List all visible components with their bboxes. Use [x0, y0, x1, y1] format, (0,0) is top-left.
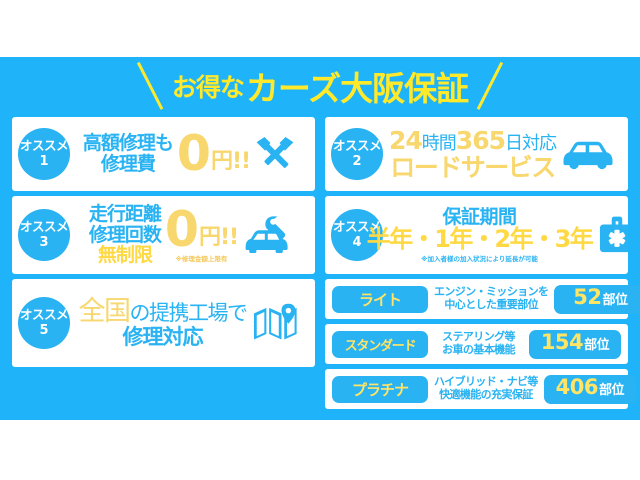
plan-description: ハイブリッド・ナビ等 快適機能の充実保証 — [434, 376, 538, 401]
poster-header: ＼ お得な カーズ大阪保証 ／ — [0, 57, 640, 115]
card-1-line1: 高額修理も — [83, 133, 173, 154]
badge-number: 2 — [352, 155, 361, 168]
card-4-text: 保証期間 半年・1年・2年・3年 ※加入者様の加入状況により延長が可能 — [367, 207, 593, 263]
plan-row-standard[interactable]: スタンダード ステアリング等 お車の基本機能 154 部位 — [325, 324, 628, 364]
map-pin-icon — [251, 301, 301, 345]
plan-name-pill: スタンダード — [332, 331, 428, 358]
plan-row-platinum[interactable]: プラチナ ハイブリッド・ナビ等 快適機能の充実保証 406 部位 — [325, 369, 628, 409]
plan-count-pill: 52 部位 — [554, 285, 640, 314]
recommend-badge-5: オススメ 5 — [18, 297, 70, 349]
recommend-badge-2: オススメ 2 — [331, 128, 383, 180]
card-2-days-unit: 日対応 — [505, 133, 556, 154]
feature-card-2: オススメ 2 24時間365日対応 ロードサービス — [325, 117, 628, 191]
feature-card-5: オススメ 5 全国の提携工場で 修理対応 — [12, 279, 315, 367]
card-5-line1: 全国の提携工場で — [79, 297, 247, 326]
card-4-line1: 保証期間 — [367, 207, 593, 228]
plan-description-line2: 快適機能の充実保証 — [434, 389, 538, 402]
card-5-line1-rest: の提携工場で — [130, 301, 247, 325]
card-5-line1-highlight: 全国 — [79, 296, 130, 327]
plan-count-number: 406 — [556, 375, 598, 399]
plan-name-pill: プラチナ — [332, 376, 428, 403]
card-1-amount-unit: 円!! — [211, 152, 250, 176]
recommend-badge-1: オススメ 1 — [18, 128, 70, 180]
plan-count-number: 154 — [541, 330, 583, 354]
card-1-text: 高額修理も 修理費 — [83, 133, 173, 174]
badge-number: 5 — [39, 324, 48, 337]
header-title: カーズ大阪保証 — [246, 62, 468, 110]
header-slash-right-icon: ／ — [466, 63, 516, 113]
badge-label: オススメ — [20, 140, 68, 153]
car-icon — [560, 137, 616, 171]
plan-count-unit: 部位 — [603, 289, 628, 308]
plan-count-pill: 406 部位 — [544, 375, 636, 404]
card-3-text: 走行距離 修理回数 無制限 — [89, 204, 161, 266]
badge-number: 4 — [352, 236, 361, 249]
hammer-tools-icon — [254, 133, 296, 175]
feature-grid: オススメ 1 高額修理も 修理費 0 円!! — [12, 117, 628, 413]
card-2-hours-unit: 時間 — [422, 133, 456, 154]
card-3-line1: 走行距離 — [89, 204, 161, 225]
card-2-days: 365 — [456, 126, 505, 155]
feature-card-1: オススメ 1 高額修理も 修理費 0 円!! — [12, 117, 315, 191]
card-3-line3: 無制限 — [89, 245, 161, 266]
badge-label: オススメ — [333, 140, 381, 153]
card-2-line2: ロードサービス — [389, 154, 556, 181]
plan-description-line2: お車の基本機能 — [434, 344, 523, 357]
feature-card-3: オススメ 3 走行距離 修理回数 無制限 0 円!! ※修理金額上限有 — [12, 196, 315, 274]
card-5-text: 全国の提携工場で 修理対応 — [79, 297, 247, 349]
plan-count-unit: 部位 — [599, 379, 624, 398]
badge-label: オススメ — [20, 221, 68, 234]
card-2-hours: 24 — [389, 126, 422, 155]
card-3-amount-group: 0 円!! ※修理金額上限有 — [165, 207, 238, 263]
card-5-line2: 修理対応 — [79, 326, 247, 349]
recommend-badge-3: オススメ 3 — [18, 209, 70, 261]
plan-count-number: 52 — [573, 285, 601, 309]
card-3-line2: 修理回数 — [89, 225, 161, 246]
badge-label: オススメ — [20, 309, 68, 322]
plan-list: ライト エンジン・ミッションを 中心とした重要部位 52 部位 スタンダード ス… — [325, 279, 628, 411]
card-1-amount: 0 円!! — [177, 131, 250, 176]
plan-count-pill: 154 部位 — [529, 330, 621, 359]
card-1-line2: 修理費 — [83, 154, 173, 175]
badge-number: 1 — [39, 155, 48, 168]
car-wrench-icon — [242, 214, 290, 256]
plan-description: ステアリング等 お車の基本機能 — [434, 331, 523, 356]
card-2-text: 24時間365日対応 ロードサービス — [389, 127, 556, 182]
card-3-amount: 0 円!! — [165, 207, 238, 252]
card-4-note: ※加入者様の加入状況により延長が可能 — [367, 256, 593, 263]
card-2-line1: 24時間365日対応 — [389, 127, 556, 155]
badge-number: 3 — [39, 236, 48, 249]
plan-description: エンジン・ミッションを 中心とした重要部位 — [434, 286, 548, 311]
card-1-amount-number: 0 — [177, 131, 211, 176]
medical-briefcase-icon — [596, 214, 628, 256]
warranty-poster: ＼ お得な カーズ大阪保証 ／ オススメ 1 高額修理も 修理費 0 円!! — [0, 0, 640, 480]
plan-count-unit: 部位 — [584, 334, 609, 353]
card-4-line2: 半年・1年・2年・3年 — [367, 227, 593, 253]
header-subtitle: お得な — [172, 68, 244, 104]
card-3-amount-number: 0 — [165, 207, 199, 252]
card-3-amount-unit: 円!! — [199, 228, 238, 252]
feature-card-4: オススメ 4 保証期間 半年・1年・2年・3年 ※加入者様の加入状況により延長が… — [325, 196, 628, 274]
header-slash-left-icon: ＼ — [124, 63, 174, 113]
plan-description-line2: 中心とした重要部位 — [434, 299, 548, 312]
card-3-note: ※修理金額上限有 — [165, 253, 238, 263]
plan-name-pill: ライト — [332, 286, 428, 313]
plan-row-light[interactable]: ライト エンジン・ミッションを 中心とした重要部位 52 部位 — [325, 279, 628, 319]
